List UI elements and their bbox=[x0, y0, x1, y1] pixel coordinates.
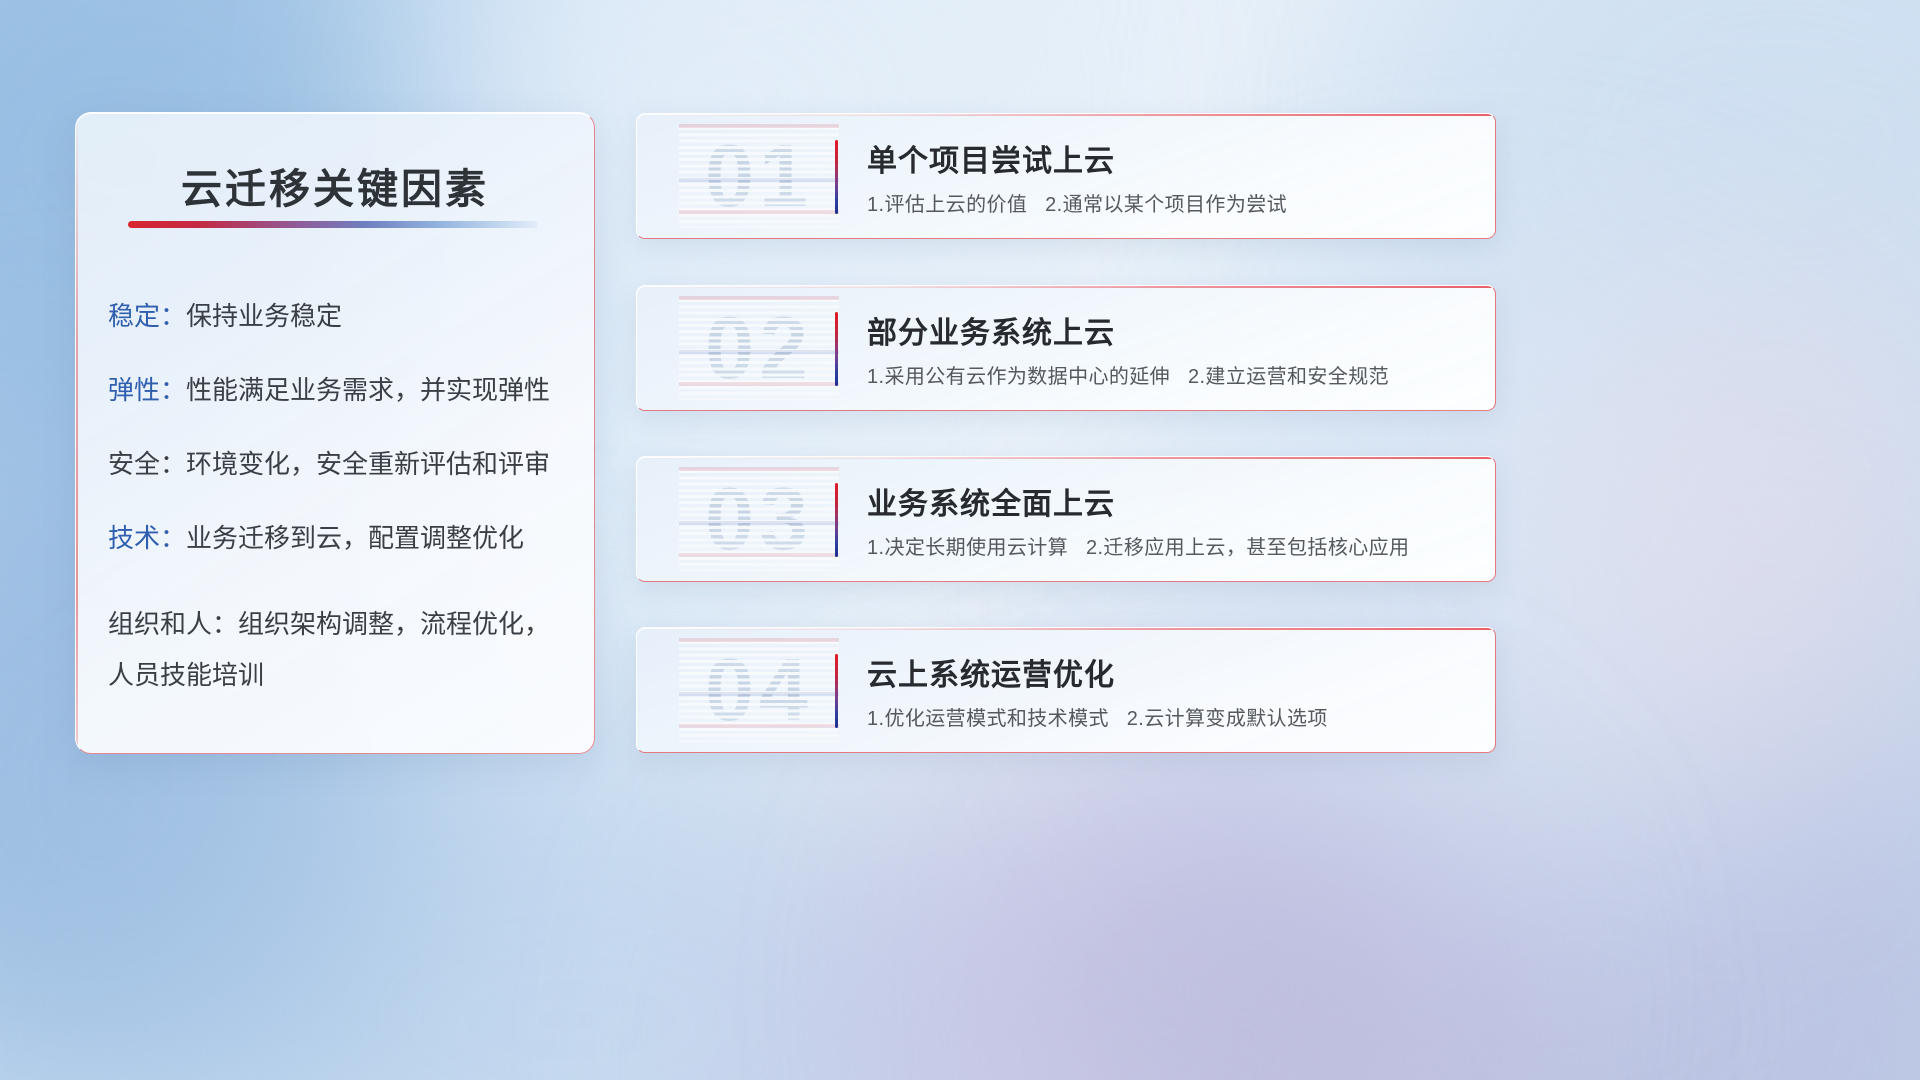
key-factors-title: 云迁移关键因素 bbox=[76, 155, 594, 215]
step-number-watermark: 03 bbox=[679, 467, 839, 571]
step-card-03[interactable]: 03 业务系统全面上云 1.决定长期使用云计算 2.迁移应用上云，甚至包括核心应… bbox=[636, 456, 1496, 582]
step-card-04[interactable]: 04 云上系统运营优化 1.优化运营模式和技术模式 2.云计算变成默认选项 bbox=[636, 627, 1496, 753]
list-item: 安全：环境变化，安全重新评估和评审 bbox=[108, 451, 568, 477]
list-item-label: 安全： bbox=[108, 449, 186, 479]
list-item: 稳定：保持业务稳定 bbox=[108, 303, 568, 329]
list-item-label: 弹性： bbox=[108, 375, 186, 405]
key-factors-card: 云迁移关键因素 稳定：保持业务稳定 弹性：性能满足业务需求，并实现弹性 安全：环… bbox=[75, 112, 595, 754]
step-accent-bar bbox=[835, 654, 838, 728]
step-subtitle: 1.评估上云的价值 2.通常以某个项目作为尝试 bbox=[867, 188, 1287, 217]
step-accent-bar bbox=[835, 483, 838, 557]
list-item-label: 稳定： bbox=[108, 301, 186, 331]
step-subtitle: 1.优化运营模式和技术模式 2.云计算变成默认选项 bbox=[867, 702, 1328, 731]
list-item-label: 组织和人： bbox=[108, 609, 238, 639]
step-card-02[interactable]: 02 部分业务系统上云 1.采用公有云作为数据中心的延伸 2.建立运营和安全规范 bbox=[636, 285, 1496, 411]
step-number-watermark: 01 bbox=[679, 124, 839, 228]
key-factors-list: 稳定：保持业务稳定 弹性：性能满足业务需求，并实现弹性 安全：环境变化，安全重新… bbox=[108, 303, 568, 700]
step-subtitle: 1.采用公有云作为数据中心的延伸 2.建立运营和安全规范 bbox=[867, 360, 1389, 389]
step-title: 云上系统运营优化 bbox=[867, 650, 1115, 694]
list-item-text: 业务迁移到云，配置调整优化 bbox=[186, 523, 524, 553]
step-title: 单个项目尝试上云 bbox=[867, 136, 1115, 180]
title-accent-rule bbox=[128, 221, 538, 228]
list-item: 技术：业务迁移到云，配置调整优化 bbox=[108, 525, 568, 551]
step-subtitle: 1.决定长期使用云计算 2.迁移应用上云，甚至包括核心应用 bbox=[867, 531, 1409, 560]
list-item-text: 环境变化，安全重新评估和评审 bbox=[186, 449, 550, 479]
step-accent-bar bbox=[835, 140, 838, 214]
step-number-watermark: 04 bbox=[679, 638, 839, 742]
list-item: 弹性：性能满足业务需求，并实现弹性 bbox=[108, 377, 568, 403]
list-item-text: 性能满足业务需求，并实现弹性 bbox=[186, 375, 550, 405]
list-item: 组织和人：组织架构调整，流程优化，人员技能培训 bbox=[108, 599, 568, 700]
step-accent-bar bbox=[835, 312, 838, 386]
step-title: 部分业务系统上云 bbox=[867, 308, 1115, 352]
step-title: 业务系统全面上云 bbox=[867, 479, 1115, 523]
step-number-watermark: 02 bbox=[679, 296, 839, 400]
step-card-01[interactable]: 01 单个项目尝试上云 1.评估上云的价值 2.通常以某个项目作为尝试 bbox=[636, 113, 1496, 239]
list-item-label: 技术： bbox=[108, 523, 186, 553]
list-item-text: 保持业务稳定 bbox=[186, 301, 342, 331]
